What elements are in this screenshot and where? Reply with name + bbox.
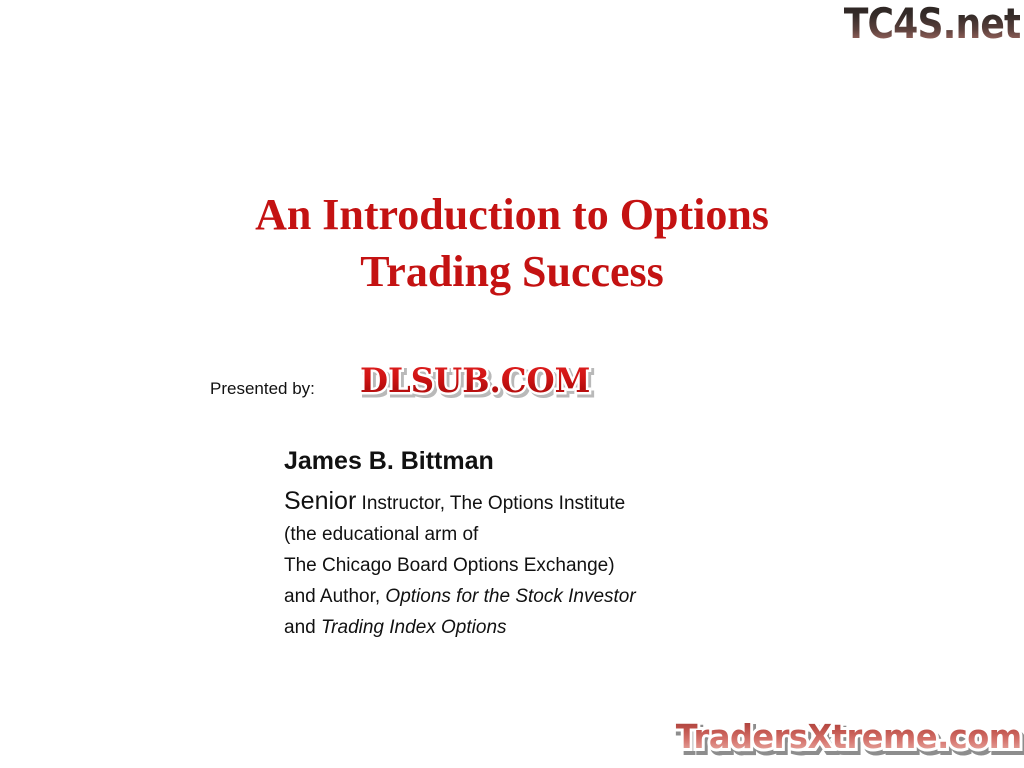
tradersxtreme-watermark-glyphs: TradersXtreme.com TradersXtreme.com Trad… — [676, 717, 1022, 757]
page-title: An Introduction to Options Trading Succe… — [0, 186, 1024, 300]
tc4s-watermark: TC4S.net — [843, 2, 1020, 46]
presenter-author-line-1: and Author, Options for the Stock Invest… — [284, 581, 884, 612]
presenter-affiliation-line-2: The Chicago Board Options Exchange) — [284, 550, 884, 581]
presenter-author-line-2: and Trading Index Options — [284, 612, 884, 643]
title-line-2: Trading Success — [0, 243, 1024, 300]
dlsub-fill-layer: DLSUB.COM — [360, 361, 590, 401]
presenter-role-emphasis: Senior — [284, 487, 356, 515]
tradersxtreme-watermark: TradersXtreme.com TradersXtreme.com Trad… — [665, 714, 1022, 760]
author-prefix: and Author, — [284, 586, 385, 607]
dlsub-watermark-glyphs: DLSUB.COM DLSUB.COM DLSUB.COM — [360, 362, 590, 400]
presenter-name: James B. Bittman — [284, 446, 884, 477]
presenter-role: Senior Instructor, The Options Institute — [284, 486, 884, 519]
presentation-slide: TC4S.net An Introduction to Options Trad… — [0, 0, 1024, 768]
book-title-1: Options for the Stock Investor — [385, 586, 635, 607]
books-conjunction: and — [284, 617, 321, 638]
tradersxtreme-fill-layer: TradersXtreme.com — [676, 717, 1022, 756]
presenter-affiliation-line-1: (the educational arm of — [284, 519, 884, 550]
book-title-2: Trading Index Options — [321, 617, 507, 638]
presented-by-label: Presented by: — [210, 379, 315, 399]
presenter-bio: James B. Bittman Senior Instructor, The … — [284, 446, 884, 643]
dlsub-watermark: DLSUB.COM DLSUB.COM DLSUB.COM — [360, 361, 602, 401]
presenter-role-rest: Instructor, The Options Institute — [356, 493, 625, 514]
title-line-1: An Introduction to Options — [0, 186, 1024, 243]
